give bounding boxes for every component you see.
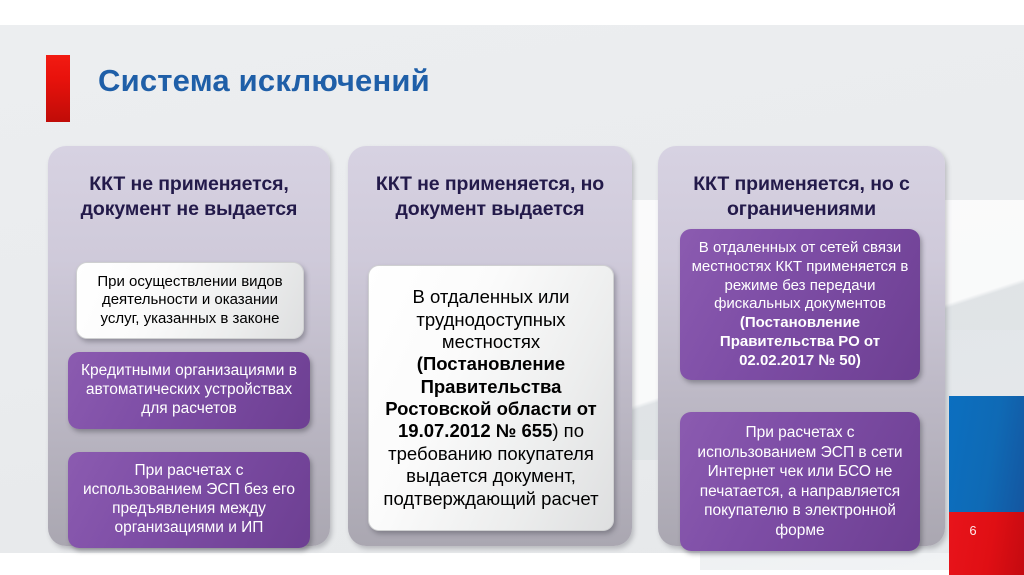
column-3-header: ККТ применяется, но с ограничениями <box>672 172 931 222</box>
column-1-header: ККТ не применяется, документ не выдается <box>62 172 316 222</box>
column-2-header: ККТ не применяется, но документ выдается <box>362 172 618 222</box>
exception-item-card: В отдаленных от сетей связи местностях К… <box>680 229 920 380</box>
exception-item-card: В отдаленных или труднодоступных местнос… <box>368 265 614 531</box>
exception-item-rich-text: В отдаленных от сетей связи местностях К… <box>690 239 910 370</box>
slide-canvas: Система исключений ККТ не применяется, д… <box>0 0 1024 575</box>
title-accent-bar <box>46 55 70 122</box>
decoration-flag-blue <box>949 396 1024 512</box>
exception-item-rich-text: В отдаленных или труднодоступных местнос… <box>379 286 603 510</box>
page-number: 6 <box>949 523 997 538</box>
decoration-flag-red <box>949 512 1024 575</box>
exception-item-card: При расчетах с использованием ЭСП в сети… <box>680 412 920 551</box>
exception-item-card: При осуществлении видов деятельности и о… <box>76 262 304 339</box>
exception-item-card: При расчетах с использованием ЭСП без ег… <box>68 452 310 548</box>
page-title: Система исключений <box>98 63 430 99</box>
exception-item-card: Кредитными организациями в автоматически… <box>68 352 310 429</box>
